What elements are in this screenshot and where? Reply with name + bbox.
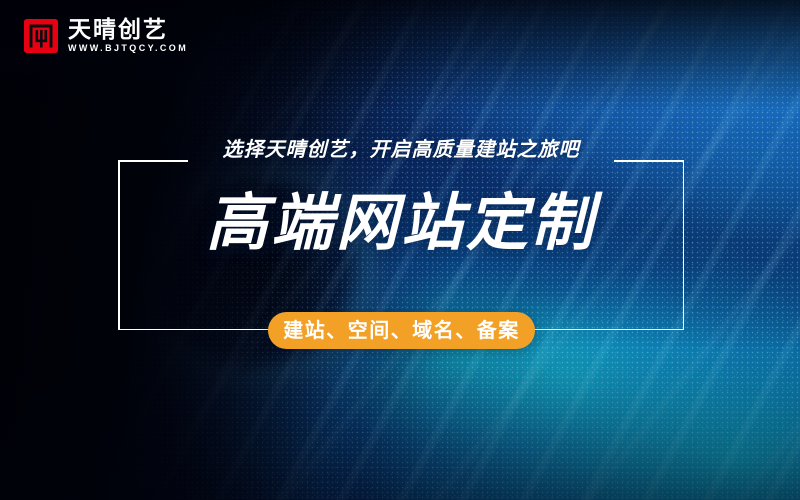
- hero-copy: 选择天晴创艺，开启高质量建站之旅吧 高端网站定制: [118, 140, 684, 255]
- hero-tagline: 选择天晴创艺，开启高质量建站之旅吧: [118, 140, 684, 160]
- brand-logo-text: 天晴创艺 WWW.BJTQCY.COM: [68, 18, 188, 53]
- brand-website: WWW.BJTQCY.COM: [68, 44, 188, 53]
- services-cta-pill[interactable]: 建站、空间、域名、备案: [268, 312, 535, 349]
- brand-name: 天晴创艺: [68, 18, 188, 41]
- brand-logo[interactable]: 天晴创艺 WWW.BJTQCY.COM: [24, 18, 188, 53]
- promo-banner: 天晴创艺 WWW.BJTQCY.COM 选择天晴创艺，开启高质量建站之旅吧 高端…: [0, 0, 800, 500]
- tqcy-logo-icon: [24, 19, 58, 53]
- background-bottom-vignette: [0, 350, 800, 500]
- hero-headline: 高端网站定制: [118, 193, 684, 255]
- services-cta-label: 建站、空间、域名、备案: [283, 321, 520, 341]
